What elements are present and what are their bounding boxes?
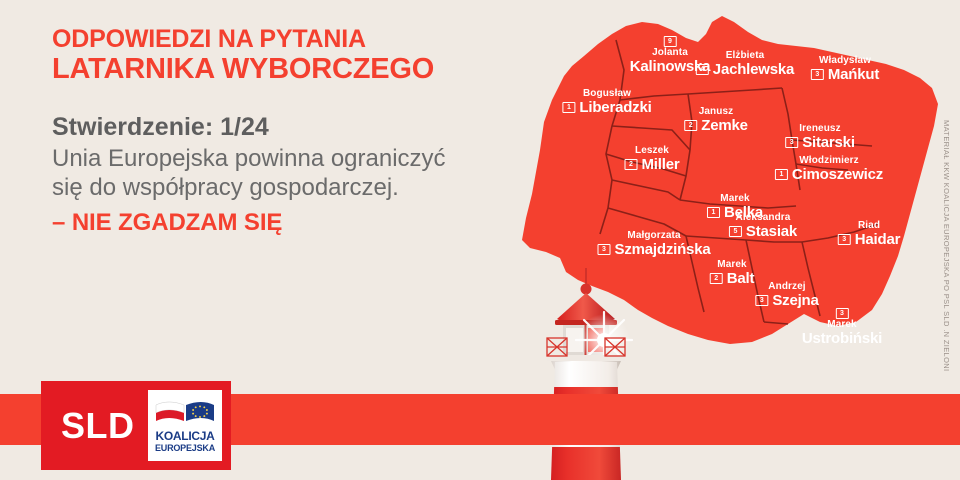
candidate-last-name: Haidar — [855, 232, 901, 248]
candidate-list-number: 2 — [625, 159, 638, 170]
sld-wordmark: SLD — [61, 405, 135, 447]
candidate-list-number: 3 — [811, 69, 824, 80]
candidate-first-name: Janusz — [684, 107, 748, 118]
candidate-last-name: Miller — [642, 157, 680, 173]
map-candidate-label: Władysław 3 Mańkut — [811, 56, 879, 82]
map-candidate-label: Marek 2 Balt — [710, 260, 755, 286]
candidate-first-name: Ireneusz — [785, 124, 855, 135]
candidate-first-name: Małgorzata — [598, 231, 711, 242]
candidate-first-name: Andrzej — [755, 282, 818, 293]
statement-counter: Stwierdzenie: 1/24 — [52, 113, 522, 142]
map-candidate-label: Elżbieta 4 Jachlewska — [696, 51, 794, 77]
material-credit: MATERIAŁ KKW KOALICJA EUROPEJSKA PO PSL … — [942, 120, 951, 371]
headline-line-1: ODPOWIEDZI NA PYTANIA — [52, 26, 522, 53]
coalition-name-line-1: KOALICJA — [156, 430, 215, 442]
candidate-first-name: Władysław — [811, 56, 879, 67]
candidate-last-name: Liberadzki — [579, 100, 651, 116]
map-candidate-label: Aleksandra 5 Stasiak — [729, 213, 797, 239]
candidate-list-number: 2 — [710, 273, 723, 284]
candidate-last-name: Szmajdzińska — [615, 242, 711, 258]
map-candidate-label: Małgorzata 3 Szmajdzińska — [598, 231, 711, 257]
candidate-last-name: Jachlewska — [713, 62, 794, 78]
map-candidate-label: Janusz 2 Zemke — [684, 107, 748, 133]
candidate-first-name: Leszek — [625, 146, 680, 157]
candidate-last-name: Ustrobiński — [802, 331, 882, 347]
candidate-list-number: 3 — [755, 295, 768, 306]
candidate-last-name: Sitarski — [802, 135, 855, 151]
candidate-first-name: Riad — [838, 221, 901, 232]
tower-band-red-2 — [541, 447, 635, 480]
poland-flag-red — [156, 410, 184, 421]
lighthouse-finial — [581, 284, 592, 295]
candidate-first-name: Marek — [707, 194, 763, 205]
lighthouse-illustration — [521, 262, 651, 480]
candidate-first-name: Marek — [802, 320, 882, 331]
candidate-list-number: 2 — [684, 120, 697, 131]
candidate-last-name: Mańkut — [828, 67, 879, 83]
flags-icon — [154, 398, 216, 428]
candidate-list-number: 1 — [562, 102, 575, 113]
candidate-first-name: Elżbieta — [696, 51, 794, 62]
candidate-first-name: Bogusław — [562, 89, 651, 100]
map-candidate-label: Riad 3 Haidar — [838, 221, 901, 247]
candidate-list-number: 3 — [838, 234, 851, 245]
map-candidate-label: Ireneusz 3 Sitarski — [785, 124, 855, 150]
candidate-list-number: 1 — [707, 207, 720, 218]
coalition-name-line-2: EUROPEJSKA — [155, 444, 215, 453]
candidate-last-name: Cimoszewicz — [792, 167, 883, 183]
candidate-list-number: 1 — [775, 169, 788, 180]
answer-text: – NIE ZGADZAM SIĘ — [52, 209, 522, 237]
candidate-last-name: Balt — [727, 271, 755, 287]
candidate-list-number: 3 — [598, 244, 611, 255]
candidate-first-name: Włodzimierz — [775, 156, 883, 167]
candidate-list-number: 3 — [785, 137, 798, 148]
candidate-list-number: 5 — [729, 226, 742, 237]
candidate-last-name: Zemke — [701, 118, 748, 134]
map-candidate-label: Bogusław 1 Liberadzki — [562, 89, 651, 115]
candidate-first-name: Marek — [710, 260, 755, 271]
candidate-list-number: 9 — [664, 36, 677, 47]
sld-logo-block: SLD — [41, 381, 231, 470]
koalicja-europejska-logo: KOALICJA EUROPEJSKA — [148, 390, 222, 461]
copy-block: ODPOWIEDZI NA PYTANIA LATARNIKA WYBORCZE… — [52, 26, 522, 237]
headline-line-2: LATARNIKA WYBORCZEGO — [52, 54, 522, 85]
map-candidate-label: 3 Marek Ustrobiński — [802, 302, 882, 346]
candidate-first-name: Aleksandra — [729, 213, 797, 224]
eu-flag — [186, 402, 214, 421]
candidate-last-name: Stasiak — [746, 224, 797, 240]
statement-text: Unia Europejska powinna ograniczyć się d… — [52, 144, 482, 203]
map-candidate-label: Leszek 2 Miller — [625, 146, 680, 172]
candidate-list-number: 4 — [696, 64, 709, 75]
map-candidate-label: Włodzimierz 1 Cimoszewicz — [775, 156, 883, 182]
campaign-poster: ODPOWIEDZI NA PYTANIA LATARNIKA WYBORCZE… — [0, 0, 960, 480]
candidate-list-number: 3 — [835, 308, 848, 319]
